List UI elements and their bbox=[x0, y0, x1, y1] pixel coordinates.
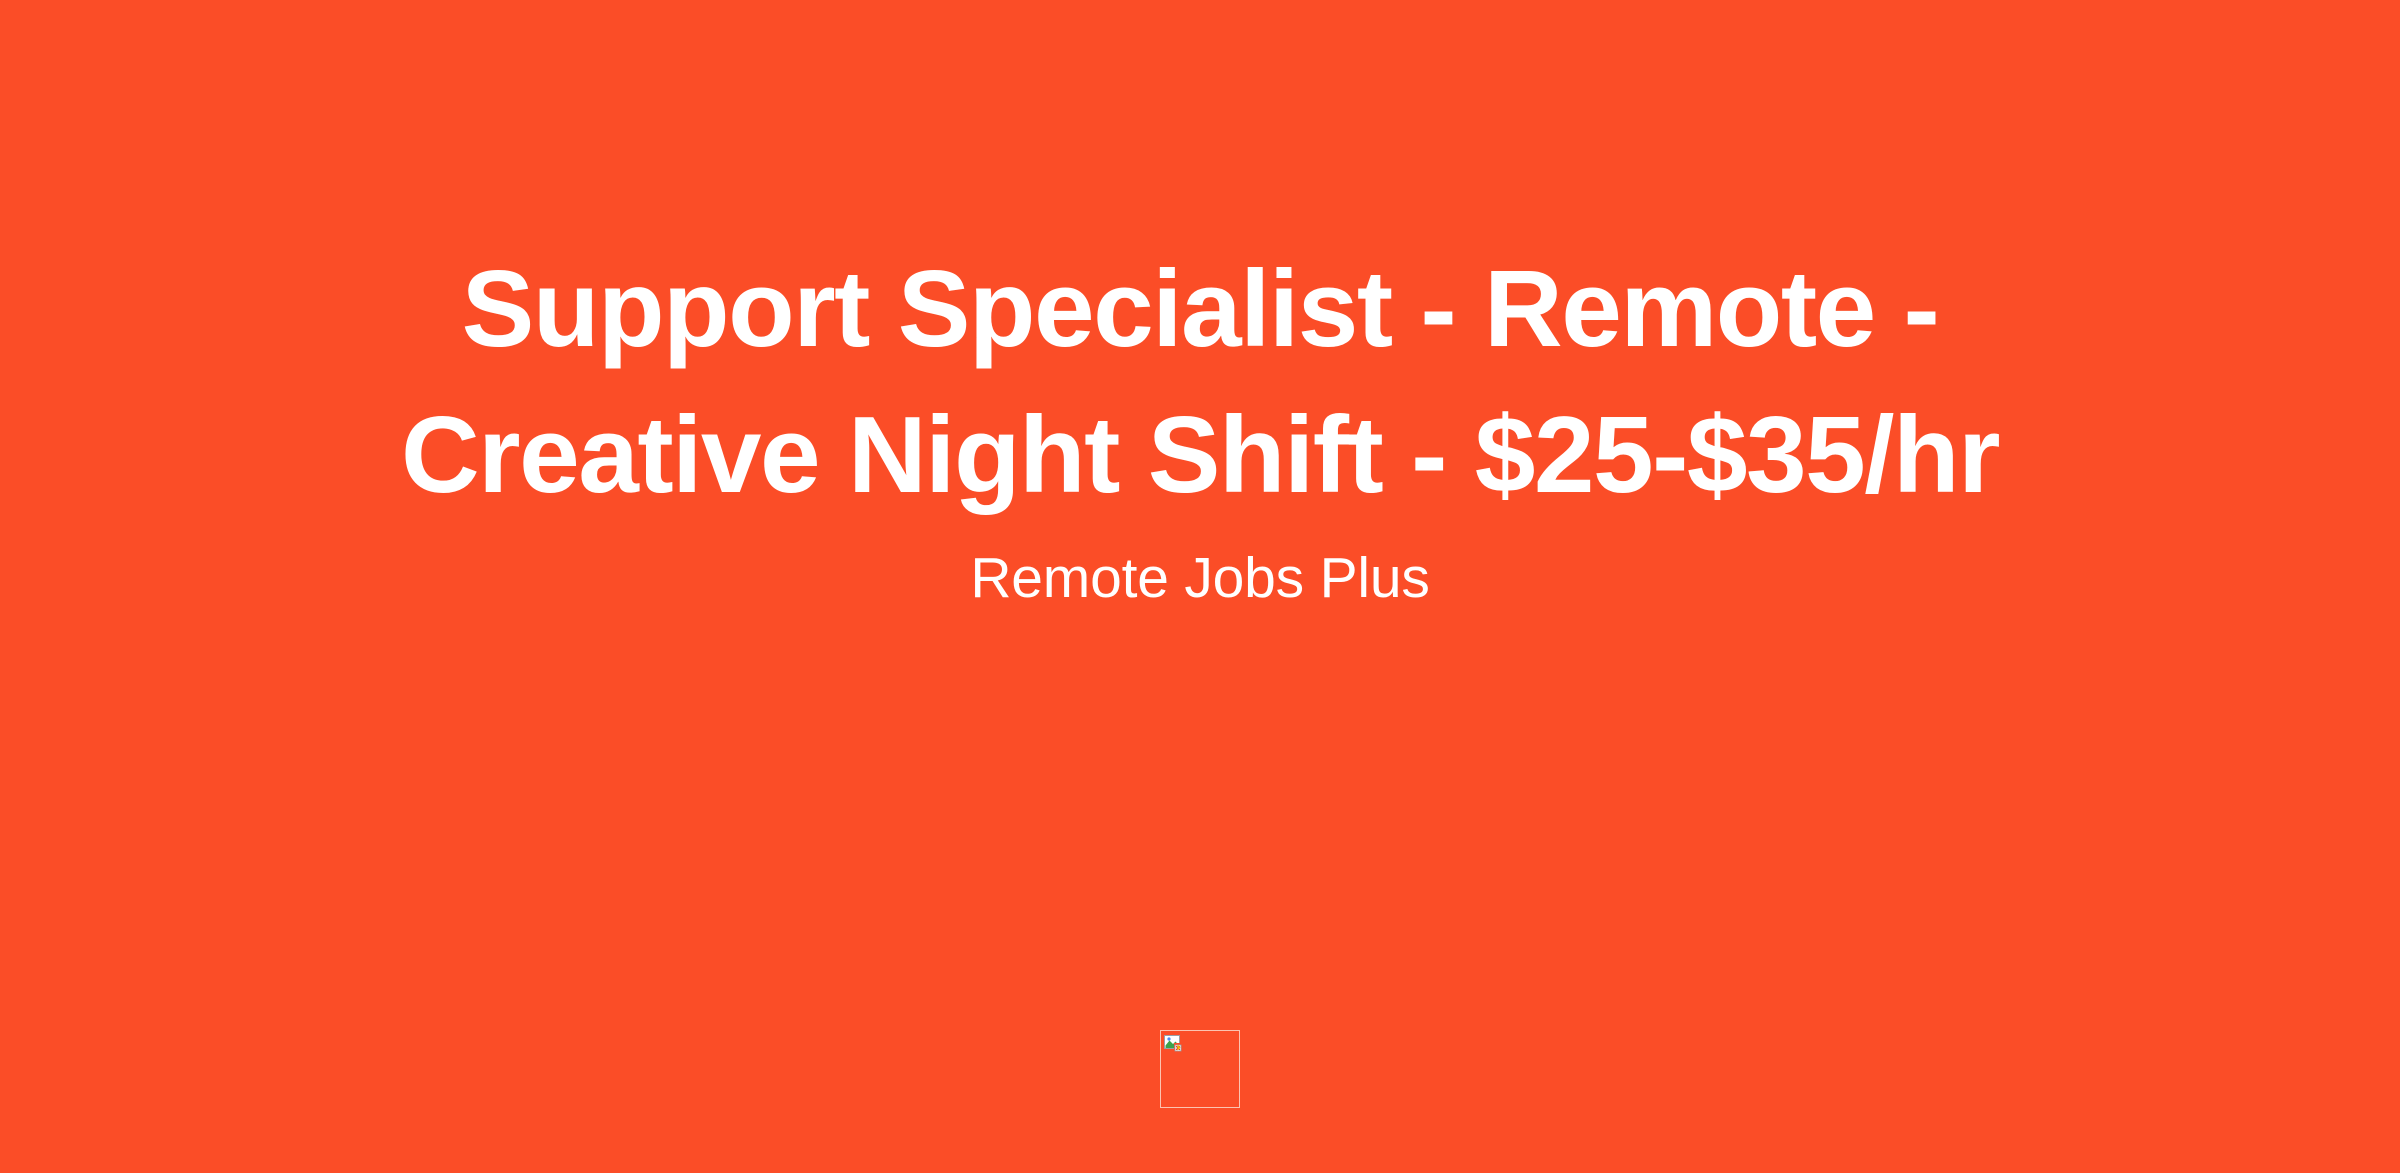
page-subtitle: Remote Jobs Plus bbox=[970, 542, 1429, 614]
media-slot bbox=[1160, 1030, 1240, 1108]
hero-text-block: Support Specialist - Remote - Creative N… bbox=[0, 236, 2400, 614]
broken-image-placeholder[interactable] bbox=[1160, 1030, 1240, 1108]
broken-image-icon bbox=[1164, 1034, 1184, 1054]
share-card: Support Specialist - Remote - Creative N… bbox=[0, 0, 2400, 1173]
page-title: Support Specialist - Remote - Creative N… bbox=[370, 236, 2030, 528]
